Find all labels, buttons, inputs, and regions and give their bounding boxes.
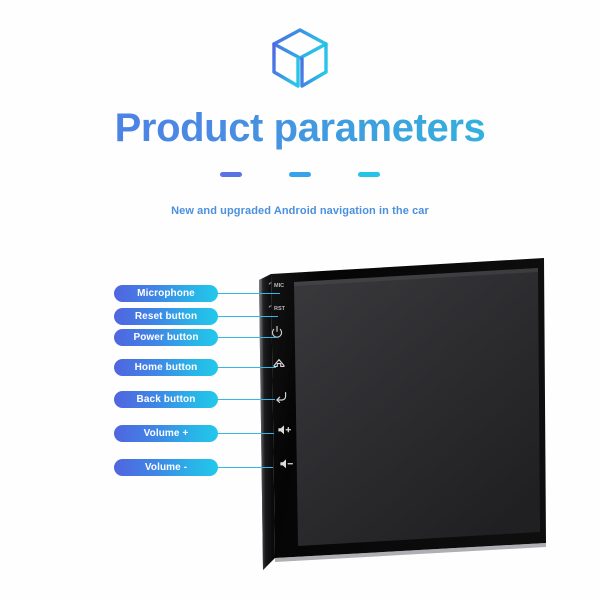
callout-reset-button: Reset button bbox=[114, 308, 278, 325]
callout-label-volume-down: Volume - bbox=[114, 459, 218, 476]
callout-volume-down: Volume - bbox=[114, 459, 273, 476]
callout-label-home-button: Home button bbox=[114, 359, 218, 376]
callout-label-reset-button: Reset button bbox=[114, 308, 218, 325]
callout-leader-home-button bbox=[218, 367, 276, 368]
callout-list: Microphone Reset button Power button Hom… bbox=[0, 0, 600, 600]
callout-label-back-button: Back button bbox=[114, 391, 218, 408]
callout-back-button: Back button bbox=[114, 391, 275, 408]
product-parameters-infographic: Product parameters New and upgraded Andr… bbox=[0, 0, 600, 600]
callout-leader-microphone bbox=[218, 293, 280, 294]
callout-microphone: Microphone bbox=[114, 285, 280, 302]
callout-leader-back-button bbox=[218, 399, 275, 400]
callout-power-button: Power button bbox=[114, 329, 277, 346]
callout-label-volume-up: Volume + bbox=[114, 425, 218, 442]
callout-label-power-button: Power button bbox=[114, 329, 218, 346]
callout-leader-reset-button bbox=[218, 316, 278, 317]
callout-volume-up: Volume + bbox=[114, 425, 274, 442]
callout-leader-volume-up bbox=[218, 433, 274, 434]
callout-leader-volume-down bbox=[218, 467, 273, 468]
callout-home-button: Home button bbox=[114, 359, 276, 376]
callout-leader-power-button bbox=[218, 337, 277, 338]
callout-label-microphone: Microphone bbox=[114, 285, 218, 302]
